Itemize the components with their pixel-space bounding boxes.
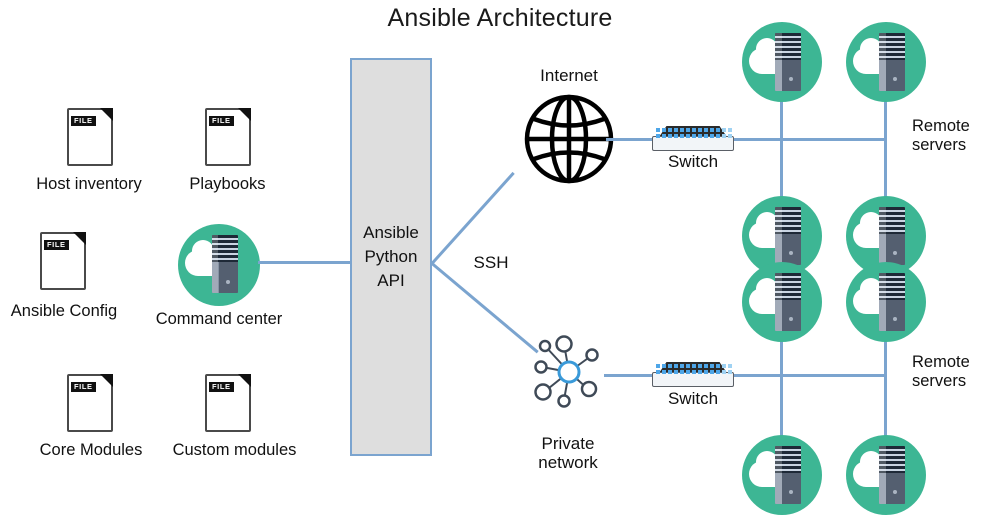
switch-ports [656, 364, 732, 374]
port-pair [710, 128, 714, 138]
server-tower [775, 207, 801, 265]
switch-front-panel [652, 136, 734, 151]
file-badge: FILE [209, 116, 234, 126]
network-hub-node [559, 362, 579, 382]
server-cloud-icon-remote-8 [846, 435, 926, 515]
file-badge: FILE [209, 382, 234, 392]
server-tower [879, 273, 905, 331]
port-pair-uplink [728, 128, 732, 138]
server-cloud-icon-remote-1 [742, 22, 822, 102]
switch-ports [656, 128, 732, 138]
port-pair [704, 128, 708, 138]
server-cloud-icon-remote-6 [846, 262, 926, 342]
server-tower [879, 207, 905, 265]
ansible-python-api-box: Ansible Python API [350, 58, 432, 456]
label-custom-modules: Custom modules [152, 441, 317, 460]
connector-command-center-to-api [258, 261, 352, 264]
port-pair [674, 128, 678, 138]
server-tower [775, 273, 801, 331]
server-tower [879, 446, 905, 504]
port-pair [716, 128, 720, 138]
server-tower [879, 33, 905, 91]
tower-highlight [775, 33, 782, 91]
port-pair [686, 364, 690, 374]
file-icon-custom-modules: FILE [205, 374, 251, 432]
port-pair [674, 364, 678, 374]
tower-highlight [212, 235, 219, 293]
label-command-center: Command center [140, 310, 298, 329]
network-switch-icon-top [652, 126, 734, 152]
power-led [226, 280, 230, 284]
server-tower [212, 235, 238, 293]
bus-top [730, 138, 887, 141]
label-switch-top: Switch [650, 152, 736, 171]
port-pair [680, 364, 684, 374]
port-pair [692, 364, 696, 374]
tower-highlight [775, 446, 782, 504]
label-switch-bottom: Switch [650, 389, 736, 408]
connector-api-to-private-network [431, 262, 539, 353]
connector-api-to-internet [431, 172, 515, 265]
label-internet: Internet [505, 66, 633, 85]
network-switch-icon-bottom [652, 362, 734, 388]
file-icon-ansible-config: FILE [40, 232, 86, 290]
port-pair [692, 128, 696, 138]
file-badge: FILE [44, 240, 69, 250]
server-tower [775, 446, 801, 504]
ansible-python-api-label: Ansible Python API [363, 221, 419, 293]
port-pair [710, 364, 714, 374]
ssh-label: SSH [455, 253, 527, 272]
file-icon-core-modules: FILE [67, 374, 113, 432]
port-pair-uplink [722, 128, 726, 138]
switch-front-panel [652, 372, 734, 387]
label-private-network: Private network [508, 434, 628, 472]
tower-highlight [879, 273, 886, 331]
file-icon-host-inventory: FILE [67, 108, 113, 166]
port-pair [668, 128, 672, 138]
file-badge: FILE [71, 382, 96, 392]
port-pair [698, 364, 702, 374]
file-icon-playbooks: FILE [205, 108, 251, 166]
port-pair [662, 128, 666, 138]
port-pair [662, 364, 666, 374]
port-pair [716, 364, 720, 374]
port-pair [686, 128, 690, 138]
tower-highlight [879, 33, 886, 91]
label-remote-servers-bottom: Remote servers [912, 353, 1000, 391]
port-pair [698, 128, 702, 138]
port-pair-uplink [722, 364, 726, 374]
port-pair [704, 364, 708, 374]
tower-highlight [775, 273, 782, 331]
port-pair [668, 364, 672, 374]
diagram-canvas: Ansible Architecture FILE Host inventory… [0, 0, 1000, 505]
server-cloud-icon-remote-5 [742, 262, 822, 342]
server-tower [775, 33, 801, 91]
label-ansible-config: Ansible Config [0, 302, 128, 321]
label-remote-servers-top: Remote servers [912, 117, 1000, 155]
bus-bottom [730, 374, 887, 377]
network-nodes-icon [528, 334, 610, 412]
server-cloud-icon-remote-7 [742, 435, 822, 515]
label-core-modules: Core Modules [6, 441, 176, 460]
tower-highlight [879, 446, 886, 504]
globe-icon [524, 94, 614, 184]
port-pair [656, 128, 660, 138]
server-cloud-icon-command-center [178, 224, 260, 306]
server-cloud-icon-remote-2 [846, 22, 926, 102]
label-playbooks: Playbooks [150, 175, 305, 194]
tower-highlight [879, 207, 886, 265]
port-pair [680, 128, 684, 138]
port-pair-uplink [728, 364, 732, 374]
tower-highlight [775, 207, 782, 265]
file-badge: FILE [71, 116, 96, 126]
port-pair [656, 364, 660, 374]
